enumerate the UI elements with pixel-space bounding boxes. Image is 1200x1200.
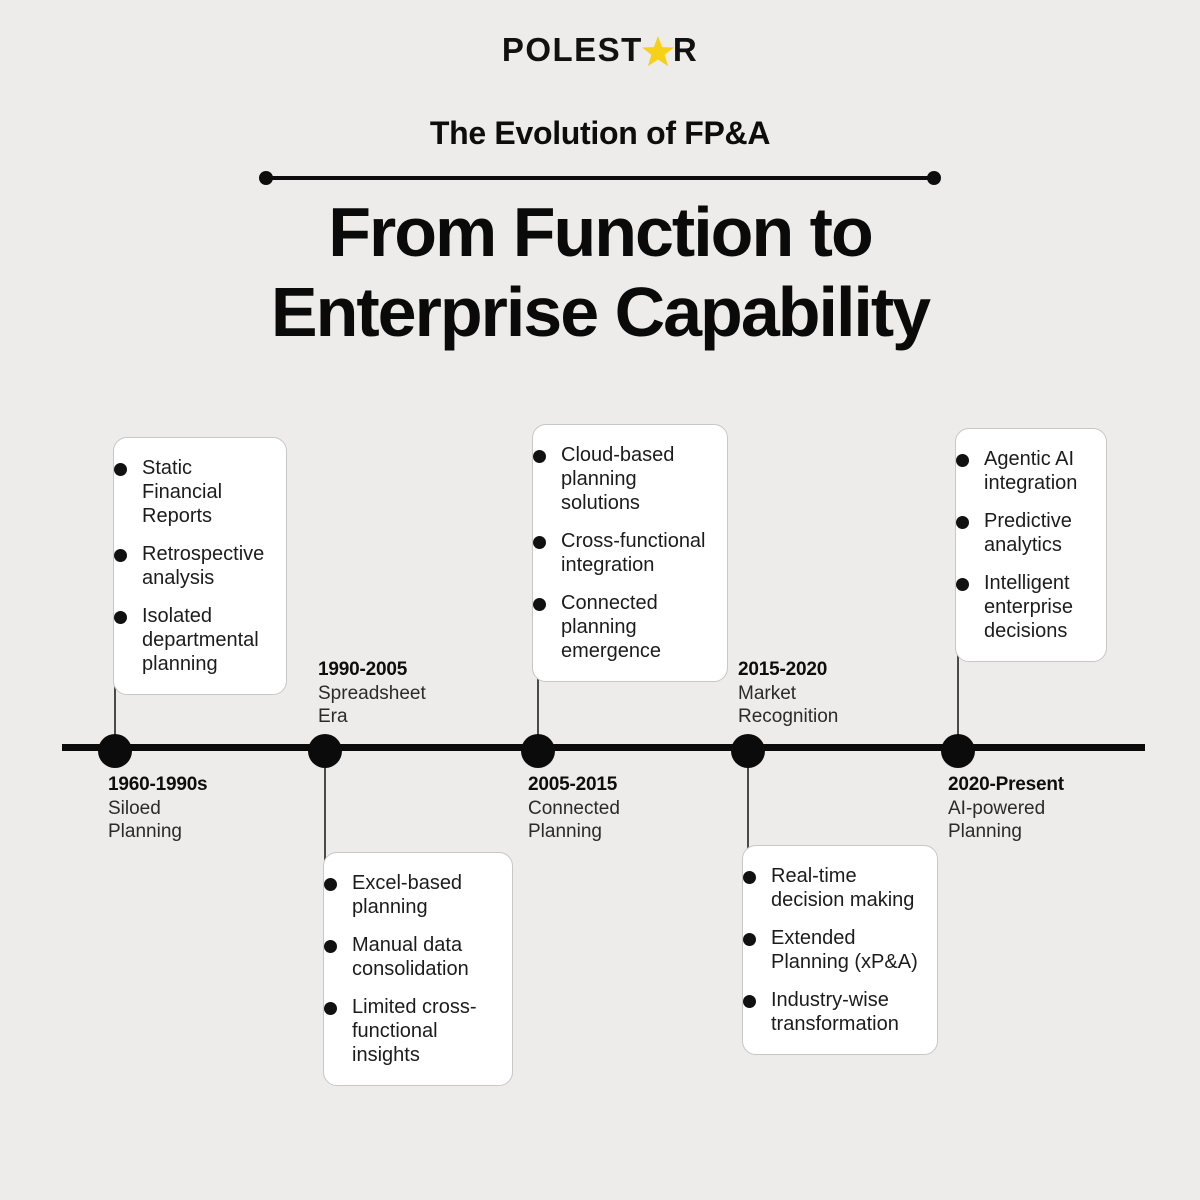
- list-item: Cross-functional integration: [561, 529, 713, 577]
- timeline-era-label: 2020-PresentAI-powered Planning: [948, 773, 1178, 843]
- list-item: Excel-based planning: [352, 871, 498, 919]
- list-item: Isolated departmental planning: [142, 604, 272, 676]
- timeline-card: Agentic AI integrationPredictive analyti…: [955, 428, 1107, 662]
- bullet-dot-icon: [956, 578, 969, 591]
- list-item: Static Financial Reports: [142, 456, 272, 528]
- headline-line-1: From Function to: [0, 192, 1200, 272]
- timeline-card: Cloud-based planning solutionsCross-func…: [532, 424, 728, 682]
- bullet-dot-icon: [743, 871, 756, 884]
- era-name: Connected Planning: [528, 797, 758, 843]
- era-range: 2005-2015: [528, 773, 758, 797]
- bullet-label: Agentic AI integration: [984, 447, 1092, 495]
- era-name: Spreadsheet Era: [318, 682, 548, 728]
- bullet-label: Extended Planning (xP&A): [771, 926, 923, 974]
- bullet-label: Intelligent enterprise decisions: [984, 571, 1092, 643]
- bullet-label: Isolated departmental planning: [142, 604, 272, 676]
- era-range: 1990-2005: [318, 658, 548, 682]
- bullet-label: Manual data consolidation: [352, 933, 498, 981]
- timeline-node[interactable]: [308, 734, 342, 768]
- list-item: Cloud-based planning solutions: [561, 443, 713, 515]
- bullet-label: Excel-based planning: [352, 871, 498, 919]
- timeline-era-label: 2015-2020Market Recognition: [738, 658, 968, 728]
- brand-text-before: POLEST: [502, 31, 643, 68]
- timeline-axis: [62, 744, 1145, 751]
- timeline-node[interactable]: [521, 734, 555, 768]
- timeline-era-label: 1990-2005Spreadsheet Era: [318, 658, 548, 728]
- timeline-era-label: 2005-2015Connected Planning: [528, 773, 758, 843]
- list-item: Real-time decision making: [771, 864, 923, 912]
- headline-line-2: Enterprise Capability: [0, 272, 1200, 352]
- bullet-dot-icon: [114, 549, 127, 562]
- star-icon: [643, 34, 673, 67]
- bullet-label: Cross-functional integration: [561, 529, 713, 577]
- brand-logo: POLESTR: [0, 33, 1200, 67]
- page-title: From Function to Enterprise Capability: [0, 192, 1200, 352]
- bullet-dot-icon: [324, 878, 337, 891]
- rule-bar: [266, 176, 934, 180]
- list-item: Intelligent enterprise decisions: [984, 571, 1092, 643]
- bullet-dot-icon: [533, 450, 546, 463]
- bullet-dot-icon: [743, 995, 756, 1008]
- list-item: Industry-wise transformation: [771, 988, 923, 1036]
- rule-dot-right: [927, 171, 941, 185]
- bullet-dot-icon: [956, 516, 969, 529]
- bullet-dot-icon: [324, 1002, 337, 1015]
- bullet-label: Cloud-based planning solutions: [561, 443, 713, 515]
- bullet-dot-icon: [956, 454, 969, 467]
- bullet-dot-icon: [114, 611, 127, 624]
- bullet-label: Real-time decision making: [771, 864, 923, 912]
- era-range: 1960-1990s: [108, 773, 338, 797]
- bullet-label: Limited cross-functional insights: [352, 995, 498, 1067]
- bullet-label: Static Financial Reports: [142, 456, 272, 528]
- era-name: Market Recognition: [738, 682, 968, 728]
- infographic-canvas: POLESTR The Evolution of FP&A From Funct…: [0, 0, 1200, 1200]
- list-item: Limited cross-functional insights: [352, 995, 498, 1067]
- bullet-dot-icon: [114, 463, 127, 476]
- era-name: Siloed Planning: [108, 797, 338, 843]
- list-item: Agentic AI integration: [984, 447, 1092, 495]
- era-name: AI-powered Planning: [948, 797, 1178, 843]
- list-item: Retrospective analysis: [142, 542, 272, 590]
- bullet-label: Retrospective analysis: [142, 542, 272, 590]
- timeline-card: Static Financial ReportsRetrospective an…: [113, 437, 287, 695]
- timeline-era-label: 1960-1990sSiloed Planning: [108, 773, 338, 843]
- timeline-node[interactable]: [941, 734, 975, 768]
- header-rule: [262, 171, 938, 185]
- bullet-dot-icon: [533, 598, 546, 611]
- era-range: 2015-2020: [738, 658, 968, 682]
- bullet-dot-icon: [533, 536, 546, 549]
- timeline-card: Excel-based planningManual data consolid…: [323, 852, 513, 1086]
- era-range: 2020-Present: [948, 773, 1178, 797]
- eyebrow-title: The Evolution of FP&A: [0, 115, 1200, 152]
- bullet-dot-icon: [324, 940, 337, 953]
- bullet-label: Connected planning emergence: [561, 591, 713, 663]
- list-item: Connected planning emergence: [561, 591, 713, 663]
- bullet-label: Predictive analytics: [984, 509, 1092, 557]
- list-item: Predictive analytics: [984, 509, 1092, 557]
- list-item: Manual data consolidation: [352, 933, 498, 981]
- list-item: Extended Planning (xP&A): [771, 926, 923, 974]
- timeline-node[interactable]: [98, 734, 132, 768]
- timeline-node[interactable]: [731, 734, 765, 768]
- bullet-label: Industry-wise transformation: [771, 988, 923, 1036]
- timeline-card: Real-time decision makingExtended Planni…: [742, 845, 938, 1055]
- bullet-dot-icon: [743, 933, 756, 946]
- brand-text-after: R: [673, 31, 698, 68]
